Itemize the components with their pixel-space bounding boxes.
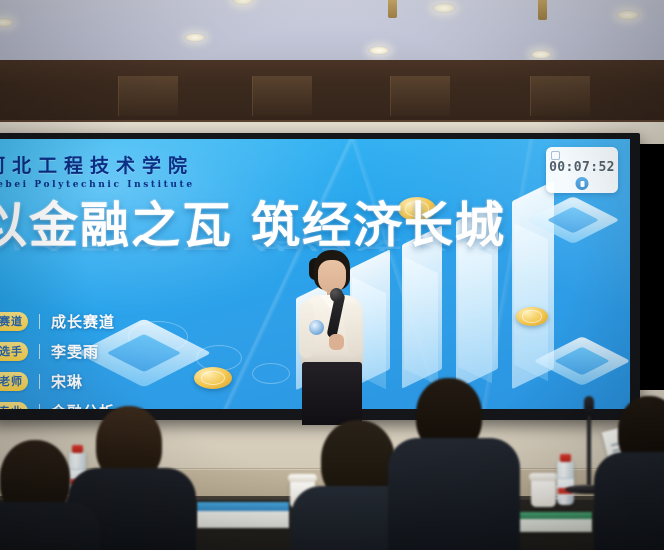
presenter xyxy=(293,250,371,425)
school-name-en: Hebei Polytechnic Institute xyxy=(0,180,195,190)
info-row: 赛道 成长赛道 xyxy=(0,309,115,333)
gold-coin xyxy=(194,367,232,389)
water-bottle xyxy=(557,461,574,505)
microphone-head xyxy=(330,288,343,302)
presentation-scene-photo: 河北工程技术学院 Hebei Polytechnic Institute 以金融… xyxy=(0,0,664,550)
info-value: 宋琳 xyxy=(51,371,83,392)
downlight xyxy=(530,50,552,59)
downlight xyxy=(0,18,14,27)
countdown-timer-card[interactable]: 00:07:52 xyxy=(546,147,618,193)
info-value: 李雯雨 xyxy=(51,341,99,362)
info-divider xyxy=(39,344,40,359)
school-name-block: 河北工程技术学院 Hebei Polytechnic Institute xyxy=(0,151,195,190)
gold-coin xyxy=(516,307,548,326)
info-row: 指导老师 宋琳 xyxy=(0,369,115,393)
downlight xyxy=(368,46,390,55)
pause-icon[interactable] xyxy=(576,177,589,190)
badge xyxy=(309,320,324,335)
info-divider xyxy=(39,374,40,389)
document-stack xyxy=(197,502,289,528)
info-value: 金融分析 xyxy=(51,401,115,410)
ceiling xyxy=(0,0,664,62)
downlight xyxy=(184,33,206,42)
pendant-light xyxy=(388,0,397,18)
info-label: 指导老师 xyxy=(0,372,28,391)
info-row: 选手 李雯雨 xyxy=(0,339,115,363)
clock-icon xyxy=(551,151,560,160)
timer-value: 00:07:52 xyxy=(546,160,618,175)
gooseneck-microphone-arm xyxy=(587,408,591,486)
hand xyxy=(329,334,344,350)
info-value: 成长赛道 xyxy=(51,311,115,332)
info-label: 选手 xyxy=(0,342,28,361)
info-label: 专业 xyxy=(0,402,28,410)
info-row: 专业 金融分析 xyxy=(0,399,115,409)
school-name-cn: 河北工程技术学院 xyxy=(0,151,195,178)
slide-title-reflection: 以金融之瓦筑经济长城 xyxy=(0,227,630,252)
black-skirt xyxy=(302,362,362,425)
slide-info-list: 赛道 成长赛道 选手 李雯雨 指导老师 宋琳 专业 金融分析 xyxy=(0,309,115,409)
pendant-light xyxy=(538,0,547,20)
downlight xyxy=(616,10,640,20)
downlight xyxy=(432,3,456,13)
decorative-ring xyxy=(252,363,290,384)
torso xyxy=(594,452,664,550)
ceramic-mug xyxy=(531,479,556,507)
ceiling-beam xyxy=(0,60,664,124)
info-divider xyxy=(39,314,40,329)
torso xyxy=(0,502,100,550)
downlight xyxy=(232,0,254,5)
info-divider xyxy=(39,404,40,410)
torso xyxy=(388,438,520,550)
info-label: 赛道 xyxy=(0,312,28,331)
